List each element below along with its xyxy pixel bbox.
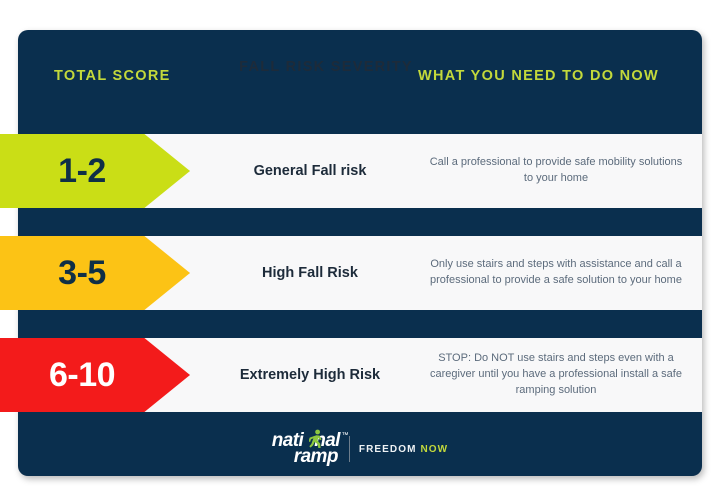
score-label: 3-5 <box>58 256 132 290</box>
tagline-freedom: FREEDOM <box>359 444 417 455</box>
logo-wordmark-line2: ramp <box>294 449 340 465</box>
tagline-now: NOW <box>420 444 448 455</box>
infographic-page: TOTAL SCORE FALL RISK SEVERITY WHAT YOU … <box>0 0 720 504</box>
table-row: General Fall risk Call a professional to… <box>18 134 702 208</box>
footer-logo: national™ ramp FREEDOM NOW <box>18 422 702 476</box>
table-header: TOTAL SCORE FALL RISK SEVERITY WHAT YOU … <box>18 30 702 98</box>
severity-label: Extremely High Risk <box>200 338 420 412</box>
action-text: Only use stairs and steps with assistanc… <box>422 236 690 310</box>
trademark-symbol: ™ <box>341 433 347 439</box>
national-ramp-logo: national™ ramp <box>272 433 340 465</box>
table-row: High Fall Risk Only use stairs and steps… <box>18 236 702 310</box>
action-text: STOP: Do NOT use stairs and steps even w… <box>422 338 690 412</box>
running-person-icon <box>309 429 324 448</box>
score-label: 6-10 <box>49 358 141 392</box>
severity-label: High Fall Risk <box>200 236 420 310</box>
severity-label: General Fall risk <box>200 134 420 208</box>
column-header-total-score: TOTAL SCORE <box>54 68 171 84</box>
action-text: Call a professional to provide safe mobi… <box>422 134 690 208</box>
table-row: Extremely High Risk STOP: Do NOT use sta… <box>18 338 702 412</box>
score-label: 1-2 <box>58 154 132 188</box>
logo-divider <box>349 436 350 462</box>
column-header-fall-risk-severity: FALL RISK SEVERITY <box>216 30 436 104</box>
fall-risk-card: TOTAL SCORE FALL RISK SEVERITY WHAT YOU … <box>18 30 702 476</box>
logo-tagline: FREEDOM NOW <box>359 444 448 455</box>
column-header-what-to-do: WHAT YOU NEED TO DO NOW <box>418 68 659 84</box>
